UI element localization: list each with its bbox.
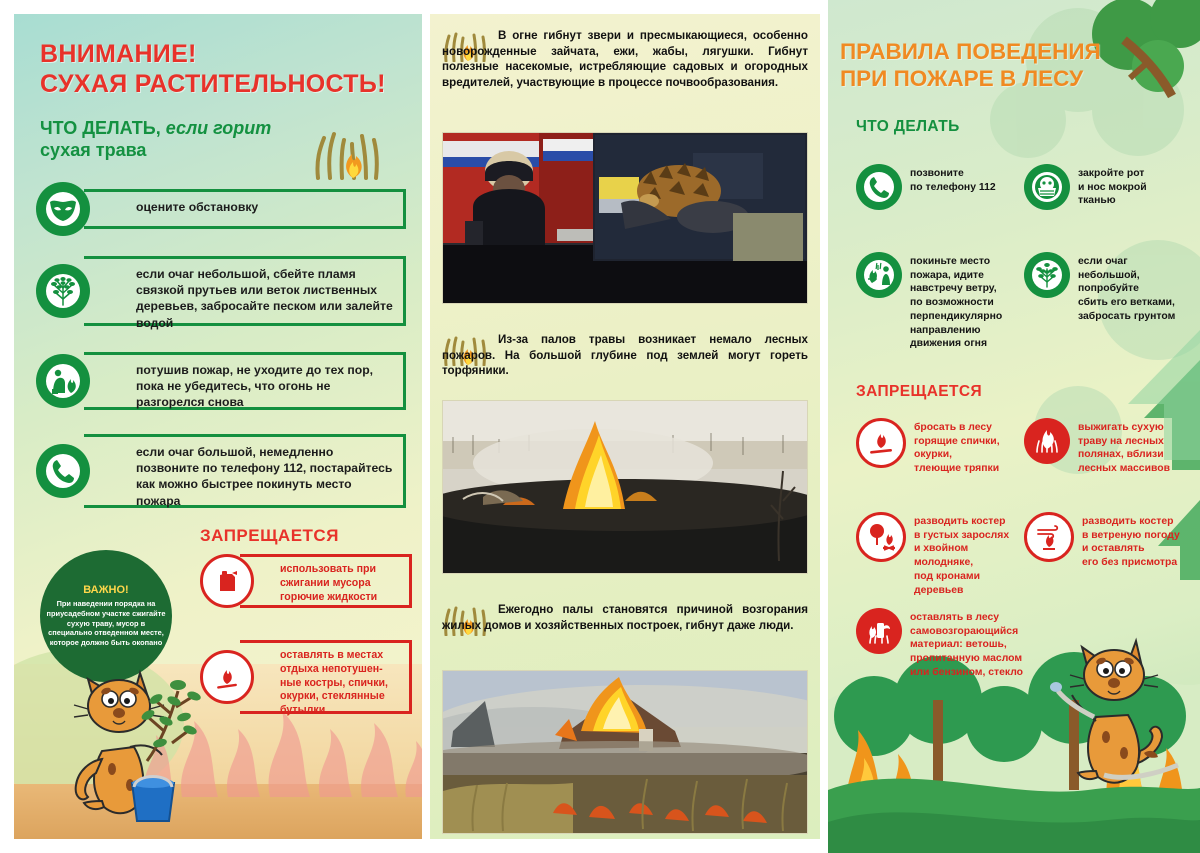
important-text: При наведении порядка на приусадебном уч… — [46, 599, 166, 649]
person-leaving-fire-icon — [856, 252, 902, 298]
windy-campfire-icon — [1024, 512, 1074, 562]
do-item-label: закройте рот и нос мокрой тканью — [1078, 164, 1147, 208]
list-item[interactable]: если очаг небольшой, сбейте пламя связко… — [36, 252, 406, 330]
middle-text-body: Ежегодно палы становятся причиной возгор… — [442, 602, 808, 633]
phone-icon — [36, 444, 90, 498]
middle-text-body: В огне гибнут звери и пресмыкающиеся, ос… — [442, 28, 808, 91]
ban-item-label: оставлять в местах отдыха непотушен-ные … — [280, 649, 403, 718]
ban-list-item[interactable]: выжигать сухую траву на лесных полянах, … — [1024, 418, 1186, 476]
right-ban-title: ЗАПРЕЩАЕТСЯ — [856, 383, 982, 401]
middle-block: Из-за палов травы возникает немало лесны… — [430, 330, 820, 381]
left-subtitle-line2: сухая трава — [40, 140, 146, 160]
left-ban-title: ЗАПРЕЩАЕТСЯ — [200, 526, 339, 546]
do-item-label: покиньте место пожара, идите навстречу в… — [910, 252, 1002, 351]
left-subtitle-line1-italic: если горит — [166, 118, 272, 138]
right-title: ПРАВИЛА ПОВЕДЕНИЯ ПРИ ПОЖАРЕ В ЛЕСУ — [840, 38, 1170, 92]
right-title-line1: ПРАВИЛА ПОВЕДЕНИЯ — [840, 38, 1170, 65]
left-panel: ВНИМАНИЕ! СУХАЯ РАСТИТЕЛЬНОСТЬ! ЧТО ДЕЛА… — [14, 14, 422, 839]
ban-list-item[interactable]: оставлять в местах отдыха непотушен-ные … — [200, 636, 412, 718]
phone-icon — [856, 164, 902, 210]
left-subtitle-line1: ЧТО ДЕЛАТЬ, — [40, 118, 161, 138]
left-item-box: потушив пожар, не уходите до тех пор, по… — [84, 352, 406, 410]
list-item[interactable]: если очаг большой, немедленно позвоните … — [36, 430, 406, 512]
match-flame-icon — [856, 418, 906, 468]
ban-item-label: разводить костер в ветреную погоду и ост… — [1082, 512, 1180, 570]
middle-text: Из-за палов травы возникает немало лесны… — [430, 330, 820, 381]
campfire-under-trees-icon — [856, 512, 906, 562]
do-list-item[interactable]: если очаг небольшой, попробуйте сбить ег… — [1024, 252, 1186, 324]
match-flame-icon — [200, 650, 254, 704]
ban-item-label: использовать при сжигании мусора горючие… — [280, 563, 403, 604]
water-bucket-icon — [122, 769, 184, 825]
ban-item-label: разводить костер в густых зарослях и хво… — [914, 512, 1024, 597]
jerrycan-icon — [200, 554, 254, 608]
ban-item-label: оставлять в лесу самовозгорающийся матер… — [910, 608, 1023, 680]
do-item-label: позвоните по телефону 112 — [910, 164, 996, 194]
ban-list-item[interactable]: использовать при сжигании мусора горючие… — [200, 550, 412, 612]
right-title-line2: ПРИ ПОЖАРЕ В ЛЕСУ — [840, 65, 1170, 92]
ban-item-box: оставлять в местах отдыха непотушен-ные … — [240, 640, 412, 714]
left-item-box: если очаг небольшой, сбейте пламя связко… — [84, 256, 406, 326]
ban-list-item[interactable]: разводить костер в ветреную погоду и ост… — [1024, 512, 1186, 570]
left-item-label: оцените обстановку — [136, 199, 395, 215]
flammable-rag-icon — [856, 608, 902, 654]
left-title-line2: СУХАЯ РАСТИТЕЛЬНОСТЬ! — [40, 70, 400, 100]
masked-face-icon — [1024, 164, 1070, 210]
middle-text-body: Из-за палов травы возникает немало лесны… — [442, 332, 808, 379]
list-item[interactable]: потушив пожар, не уходите до тех пор, по… — [36, 348, 406, 414]
firefighter-with-rescued-hedgehog-photo — [442, 132, 808, 304]
do-list-item[interactable]: покиньте место пожара, идите навстречу в… — [856, 252, 1011, 351]
middle-panel: В огне гибнут звери и пресмыкающиеся, ос… — [430, 14, 820, 839]
ban-list-item[interactable]: оставлять в лесу самовозгорающийся матер… — [856, 608, 1032, 680]
person-beating-fire-icon — [36, 354, 90, 408]
important-title: ВАЖНО! — [83, 584, 128, 596]
ban-item-box: использовать при сжигании мусора горючие… — [240, 554, 412, 608]
right-do-title: ЧТО ДЕЛАТЬ — [856, 118, 960, 136]
burning-grass-red-icon — [1024, 418, 1070, 464]
grass-fire-on-burnt-field-photo — [442, 400, 808, 574]
middle-text: В огне гибнут звери и пресмыкающиеся, ос… — [430, 26, 820, 93]
burning-house-in-field-photo — [442, 670, 808, 834]
leafy-branch-icon — [36, 264, 90, 318]
left-item-label: если очаг большой, немедленно позвоните … — [136, 444, 395, 509]
left-item-label: потушив пожар, не уходите до тех пор, по… — [136, 362, 395, 411]
middle-block: В огне гибнут звери и пресмыкающиеся, ос… — [430, 26, 820, 93]
left-item-box: оцените обстановку — [84, 189, 406, 229]
ban-item-label: бросать в лесу горящие спички, окурки, т… — [914, 418, 1000, 476]
middle-text: Ежегодно палы становятся причиной возгор… — [430, 600, 820, 635]
poster-root: ВНИМАНИЕ! СУХАЯ РАСТИТЕЛЬНОСТЬ! ЧТО ДЕЛА… — [0, 0, 1200, 853]
ban-item-label: выжигать сухую траву на лесных полянах, … — [1078, 418, 1170, 476]
cat-with-fire-hose-illustration — [1044, 625, 1194, 795]
ban-list-item[interactable]: разводить костер в густых зарослях и хво… — [856, 512, 1024, 597]
left-item-box: если очаг большой, немедленно позвоните … — [84, 434, 406, 508]
left-title-line1: ВНИМАНИЕ! — [40, 40, 400, 70]
do-list-item[interactable]: позвоните по телефону 112 — [856, 164, 1006, 210]
right-panel: ПРАВИЛА ПОВЕДЕНИЯ ПРИ ПОЖАРЕ В ЛЕСУ ЧТО … — [828, 0, 1200, 853]
burning-grass-icon — [308, 124, 388, 180]
left-subtitle: ЧТО ДЕЛАТЬ, если горит сухая трава — [40, 118, 340, 162]
ban-list-item[interactable]: бросать в лесу горящие спички, окурки, т… — [856, 418, 1008, 476]
do-item-label: если очаг небольшой, попробуйте сбить ег… — [1078, 252, 1175, 324]
left-item-label: если очаг небольшой, сбейте пламя связко… — [136, 266, 395, 331]
mask-face-icon — [36, 182, 90, 236]
do-list-item[interactable]: закройте рот и нос мокрой тканью — [1024, 164, 1184, 210]
leafy-branch-icon — [1024, 252, 1070, 298]
list-item[interactable]: оцените обстановку — [36, 182, 406, 236]
left-title: ВНИМАНИЕ! СУХАЯ РАСТИТЕЛЬНОСТЬ! — [40, 40, 400, 99]
middle-block: Ежегодно палы становятся причиной возгор… — [430, 600, 820, 635]
